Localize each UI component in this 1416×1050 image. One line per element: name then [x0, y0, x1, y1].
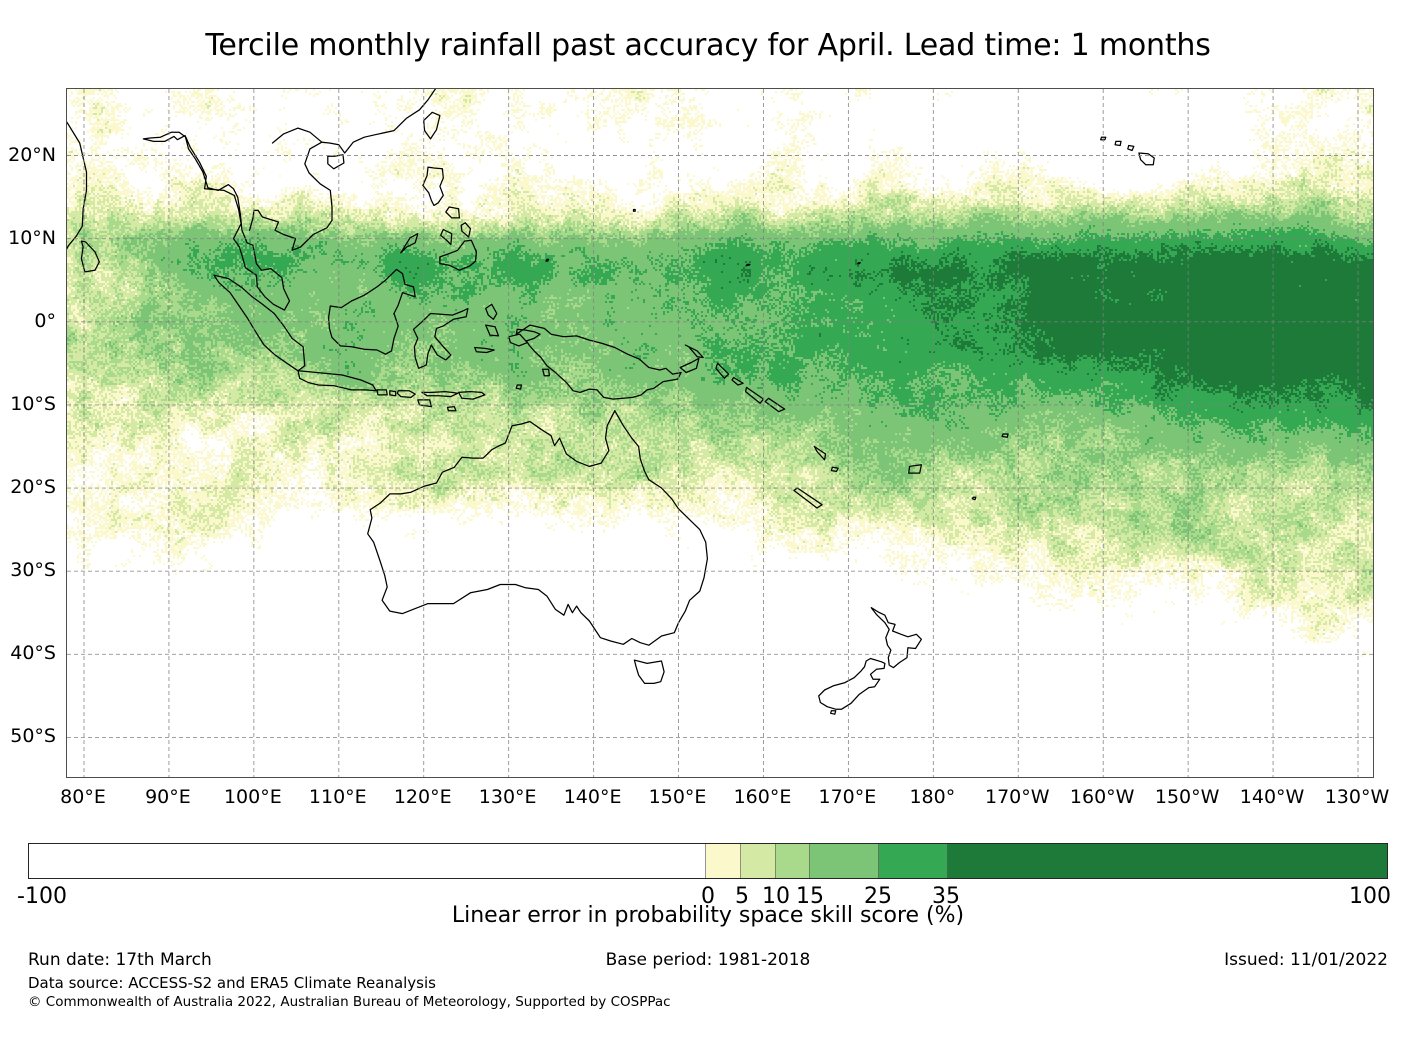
- map-plot-area: [66, 88, 1374, 778]
- footer-base-period: Base period: 1981-2018: [0, 950, 1416, 970]
- longitude-tick-label: 110°E: [309, 786, 367, 808]
- latitude-tick-label: 20°N: [0, 144, 56, 166]
- longitude-tick-label: 150°E: [649, 786, 707, 808]
- longitude-tick-label: 180°: [909, 786, 955, 808]
- colorbar-segment: [29, 844, 706, 878]
- longitude-tick-label: 90°E: [145, 786, 191, 808]
- colorbar-segment: [948, 844, 1387, 878]
- chart-title: Tercile monthly rainfall past accuracy f…: [0, 28, 1416, 63]
- longitude-tick-label: 160°W: [1070, 786, 1135, 808]
- longitude-tick-label: 130°E: [479, 786, 537, 808]
- latitude-tick-label: 10°N: [0, 227, 56, 249]
- longitude-tick-label: 130°W: [1325, 786, 1390, 808]
- latitude-tick-label: 20°S: [0, 476, 56, 498]
- figure-canvas: Tercile monthly rainfall past accuracy f…: [0, 0, 1416, 1050]
- longitude-tick-label: 120°E: [394, 786, 452, 808]
- latitude-tick-label: 50°S: [0, 725, 56, 747]
- footer-issued: Issued: 11/01/2022: [1224, 950, 1388, 970]
- latitude-tick-label: 30°S: [0, 559, 56, 581]
- latitude-tick-label: 40°S: [0, 642, 56, 664]
- colorbar: [28, 843, 1388, 879]
- footer-data-source: Data source: ACCESS-S2 and ERA5 Climate …: [28, 974, 436, 992]
- longitude-tick-label: 80°E: [60, 786, 106, 808]
- colorbar-segment: [810, 844, 879, 878]
- colorbar-segment: [706, 844, 741, 878]
- footer-copyright: © Commonwealth of Australia 2022, Austra…: [28, 994, 671, 1010]
- longitude-tick-label: 140°E: [564, 786, 622, 808]
- colorbar-segment: [776, 844, 811, 878]
- longitude-tick-label: 150°W: [1155, 786, 1220, 808]
- colorbar-segment: [879, 844, 948, 878]
- longitude-tick-label: 170°E: [819, 786, 877, 808]
- longitude-tick-label: 100°E: [224, 786, 282, 808]
- map-gridlines: [67, 89, 1374, 778]
- longitude-tick-label: 160°E: [734, 786, 792, 808]
- colorbar-label: Linear error in probability space skill …: [0, 903, 1416, 928]
- colorbar-segment: [741, 844, 776, 878]
- latitude-tick-label: 10°S: [0, 393, 56, 415]
- longitude-tick-label: 170°W: [985, 786, 1050, 808]
- longitude-tick-label: 140°W: [1240, 786, 1305, 808]
- latitude-tick-label: 0°: [0, 310, 56, 332]
